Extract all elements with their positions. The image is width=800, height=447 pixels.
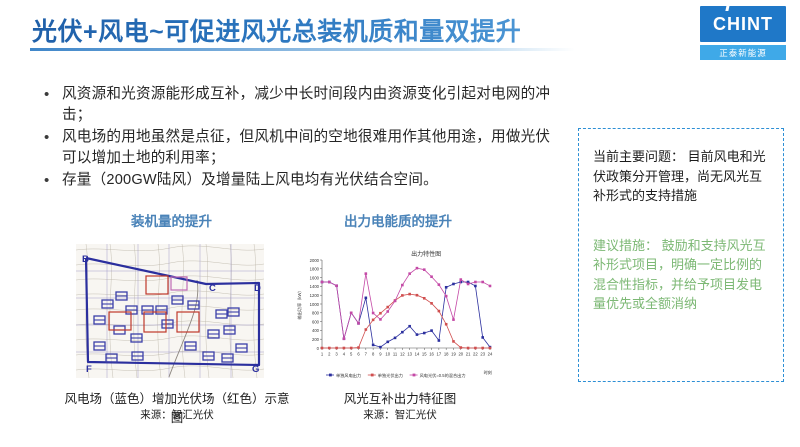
chart-x-tick-label: 12 <box>400 352 405 357</box>
chart-data-point <box>445 295 448 298</box>
panel-heading-right: 出力电能质的提升 <box>344 210 452 230</box>
chart-x-tick-label: 19 <box>451 352 456 357</box>
chart-data-point <box>474 281 477 284</box>
bullet-list: • 风资源和光资源能形成互补，减少中长时间段内由资源变化引起对电网的冲击； • … <box>44 84 564 193</box>
bullet-item: • 存量（200GW陆风）及增量陆上风电均有光伏结合空间。 <box>44 170 564 191</box>
logo-mark: CHINT <box>700 6 786 42</box>
chart-data-point <box>335 284 338 287</box>
chart-x-tick-label: 17 <box>437 352 442 357</box>
bullet-text: 存量（200GW陆风）及增量陆上风电均有光伏结合空间。 <box>62 170 438 191</box>
chart-data-point <box>372 312 375 315</box>
page-title: 光伏+风电~可促进风光总装机质和量双提升 <box>32 12 521 48</box>
chart-y-tick-label: 1200 <box>310 293 320 298</box>
output-characteristic-chart-svg: 出力特性图02004006008001000120014001600180020… <box>292 244 498 382</box>
chart-data-point <box>452 318 455 321</box>
chart-legend-label-2: 风电光伏=0.5的混合出力 <box>420 372 466 379</box>
chart-data-point <box>343 347 346 350</box>
chart-y-tick-label: 800 <box>312 311 320 316</box>
map-vertex-label-B: B <box>82 254 89 265</box>
bullet-text: 风电场的用地虽然是点征，但风机中间的空地很难用作其他用途，用做光伏可以增加土地的… <box>62 127 564 168</box>
chart-y-axis-label: 输出功率（kW） <box>296 288 303 319</box>
chart-data-point <box>365 297 368 300</box>
chart-data-point <box>386 310 389 313</box>
chart-x-axis-label: 时刻 <box>484 369 492 376</box>
chart-data-point <box>372 344 375 347</box>
logo-accent-dot-icon <box>725 5 729 11</box>
chart-data-point <box>416 267 419 270</box>
chart-data-point <box>350 347 353 350</box>
chart-x-tick-label: 23 <box>480 352 485 357</box>
chart-data-point <box>438 283 441 286</box>
chart-x-tick-label: 20 <box>458 352 463 357</box>
chart-data-point <box>452 340 455 343</box>
chart-x-tick-label: 10 <box>385 352 390 357</box>
chart-x-tick-label: 18 <box>444 352 449 357</box>
panel-heading-left: 装机量的提升 <box>131 210 212 230</box>
chart-data-point <box>401 331 404 334</box>
chart-x-tick-label: 22 <box>473 352 478 357</box>
chart-data-point <box>372 319 375 322</box>
map-vertex-label-D: D <box>254 283 261 294</box>
title-underline <box>30 48 575 51</box>
chart-y-tick-label: 1000 <box>310 302 320 307</box>
chart-data-point <box>430 275 433 278</box>
chart-data-point <box>438 310 441 313</box>
chart-data-point <box>467 347 470 350</box>
chart-legend-label-0: 单独风电出力 <box>336 372 361 379</box>
note-box: 当前主要问题： 目前风电和光伏政策分开管理，尚无风光互补形式的支持措施 建议措施… <box>578 128 784 382</box>
slide-header: 光伏+风电~可促进风光总装机质和量双提升 CHINT 正泰新能源 <box>0 0 800 62</box>
chart-data-point <box>321 281 324 284</box>
chart-data-point <box>438 339 441 342</box>
chart-data-point <box>321 347 324 350</box>
chart-legend-marker-2 <box>413 374 416 377</box>
brand-logo: CHINT 正泰新能源 <box>700 6 786 60</box>
chart-data-point <box>467 283 470 286</box>
note-advice-text: 建议措施： 鼓励和支持风光互补形式项目，明确一定比例的混合性指标，并给予项目发电… <box>593 236 769 314</box>
chart-data-point <box>416 294 419 297</box>
chart-y-tick-label: 1600 <box>310 275 320 280</box>
chart-data-point <box>401 284 404 287</box>
chart-y-tick-label: 1800 <box>310 267 320 272</box>
chart-data-point <box>445 323 448 326</box>
chart-data-point <box>386 306 389 309</box>
chart-data-point <box>430 329 433 332</box>
chart-title: 出力特性图 <box>411 250 441 258</box>
wind-farm-map-svg: BCDFG <box>76 244 264 378</box>
chart-x-tick-label: 11 <box>393 352 398 357</box>
chart-data-point <box>343 337 346 340</box>
panel-caption-right: 风光互补出力特征图 <box>300 388 500 407</box>
chart-data-point <box>481 347 484 350</box>
chart-y-tick-label: 200 <box>312 337 320 342</box>
map-vertex-label-C: C <box>209 283 216 294</box>
chart-x-tick-label: 13 <box>407 352 412 357</box>
chart-y-tick-label: 600 <box>312 319 320 324</box>
chart-data-point <box>474 347 477 350</box>
chart-x-tick-label: 15 <box>422 352 427 357</box>
map-vertex-label-G: G <box>252 364 259 375</box>
panel-source-left: 来源：智汇光伏 <box>62 407 292 422</box>
chart-y-tick-label: 1400 <box>310 284 320 289</box>
chart-data-point <box>459 346 462 349</box>
chart-data-point <box>386 341 389 344</box>
chart-data-point <box>357 322 360 325</box>
chart-data-point <box>394 300 397 303</box>
bullet-item: • 风资源和光资源能形成互补，减少中长时间段内由资源变化引起对电网的冲击； <box>44 84 564 125</box>
chart-data-point <box>379 346 382 349</box>
chart-data-point <box>408 293 411 296</box>
chart-data-point <box>489 347 492 350</box>
chart-data-point <box>350 312 353 315</box>
bullet-marker-icon: • <box>44 84 62 125</box>
chart-data-point <box>379 312 382 315</box>
chart-data-point <box>474 285 477 288</box>
chart-data-point <box>459 278 462 281</box>
logo-wordmark: CHINT <box>713 14 773 35</box>
chart-y-tick-label: 2000 <box>310 258 320 263</box>
chart-data-point <box>328 281 331 284</box>
bullet-marker-icon: • <box>44 127 62 168</box>
chart-data-point <box>408 325 411 328</box>
bullet-marker-icon: • <box>44 170 62 191</box>
bullet-item: • 风电场的用地虽然是点征，但风机中间的空地很难用作其他用途，用做光伏可以增加土… <box>44 127 564 168</box>
chart-data-point <box>401 294 404 297</box>
chart-data-point <box>365 328 368 331</box>
wind-farm-map-figure: BCDFG <box>76 244 264 378</box>
chart-data-point <box>335 347 338 350</box>
chart-x-tick-label: 21 <box>466 352 471 357</box>
chart-x-tick-label: 16 <box>429 352 434 357</box>
chart-data-point <box>452 283 455 286</box>
chart-x-tick-label: 24 <box>488 352 493 357</box>
chart-x-tick-label: 14 <box>415 352 420 357</box>
chart-y-tick-label: 400 <box>312 328 320 333</box>
chart-legend-marker-1 <box>371 374 374 377</box>
chart-data-point <box>481 281 484 284</box>
bullet-text: 风资源和光资源能形成互补，减少中长时间段内由资源变化引起对电网的冲击； <box>62 84 564 125</box>
chart-legend-marker-0 <box>329 374 332 377</box>
chart-data-point <box>423 297 426 300</box>
chart-data-point <box>416 333 419 336</box>
chart-data-point <box>408 272 411 275</box>
chart-data-point <box>379 318 382 321</box>
note-problem-text: 当前主要问题： 目前风电和光伏政策分开管理，尚无风光互补形式的支持措施 <box>593 147 769 206</box>
chart-data-point <box>423 268 426 271</box>
chart-data-point <box>423 332 426 335</box>
output-characteristic-chart: 出力特性图02004006008001000120014001600180020… <box>292 244 498 382</box>
chart-data-point <box>357 346 360 349</box>
chart-legend-label-1: 单独光伏出力 <box>378 372 403 379</box>
map-vertex-label-F: F <box>86 364 92 375</box>
chart-data-point <box>430 302 433 305</box>
panel-source-right: 来源：智汇光伏 <box>300 407 500 422</box>
chart-background <box>292 244 498 382</box>
logo-subtitle: 正泰新能源 <box>700 45 786 60</box>
chart-data-point <box>489 285 492 288</box>
chart-data-point <box>445 286 448 289</box>
chart-data-point <box>328 347 331 350</box>
chart-data-point <box>365 272 368 275</box>
chart-data-point <box>394 337 397 340</box>
chart-data-point <box>481 336 484 339</box>
